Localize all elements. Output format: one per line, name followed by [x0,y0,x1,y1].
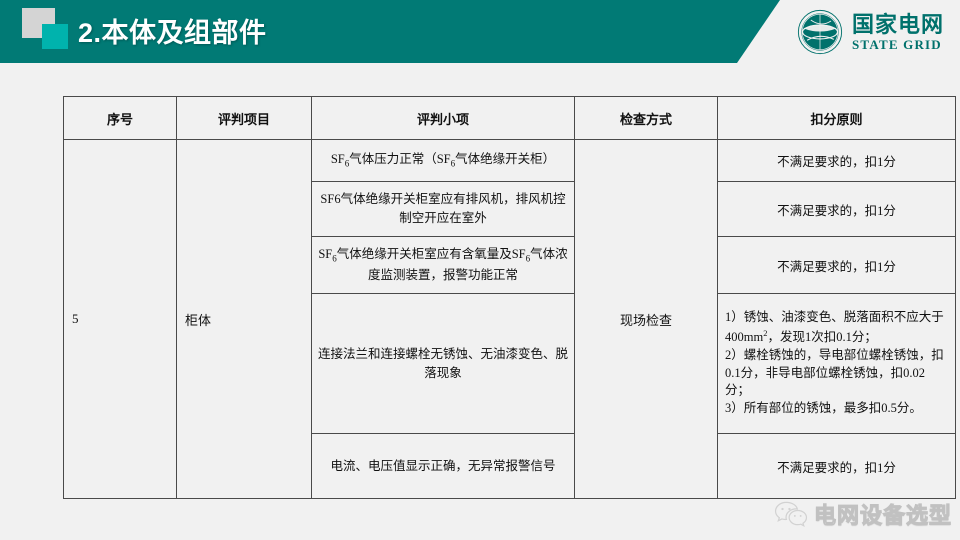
table-header-row: 序号 评判项目 评判小项 检查方式 扣分原则 [64,97,956,140]
cell-seq: 5 [64,140,177,499]
cell-deduction-rule: 不满足要求的，扣1分 [718,237,956,294]
cell-sub-item: 电流、电压值显示正确，无异常报警信号 [312,434,575,499]
cell-deduction-rule: 1）锈蚀、油漆变色、脱落面积不应大于400mm2，发现1次扣0.1分；2）螺栓锈… [718,294,956,434]
column-header-mode: 检查方式 [575,97,718,140]
column-header-seq: 序号 [64,97,177,140]
decor-square-teal [42,24,68,49]
state-grid-logo: 国家电网 STATE GRID [797,9,944,55]
cell-sub-item: SF6气体绝缘开关柜室应有含氧量及SF6气体浓度监测装置，报警功能正常 [312,237,575,294]
cell-deduction-rule: 不满足要求的，扣1分 [718,182,956,237]
page-title: 2.本体及组部件 [78,11,267,50]
evaluation-table: 序号 评判项目 评判小项 检查方式 扣分原则 5 柜体 SF6气体压力正常（SF… [63,96,956,499]
cell-deduction-rule: 不满足要求的，扣1分 [718,434,956,499]
table-body: 5 柜体 SF6气体压力正常（SF6气体绝缘开关柜） 现场检查 不满足要求的，扣… [64,140,956,499]
logo-chinese-name: 国家电网 [852,14,944,36]
cell-sub-item: SF6气体绝缘开关柜室应有排风机，排风机控制空开应在室外 [312,182,575,237]
wechat-watermark: 电网设备选型 [774,498,952,530]
column-header-item: 评判项目 [177,97,312,140]
wechat-icon [774,500,808,528]
cell-deduction-rule: 不满足要求的，扣1分 [718,140,956,182]
logo-text-block: 国家电网 STATE GRID [852,14,944,51]
cell-item: 柜体 [177,140,312,499]
table-row: 5 柜体 SF6气体压力正常（SF6气体绝缘开关柜） 现场检查 不满足要求的，扣… [64,140,956,182]
header-decor-squares [22,8,74,54]
logo-english-name: STATE GRID [852,38,944,51]
cell-check-mode: 现场检查 [575,140,718,499]
slide-header: 2.本体及组部件 国家电网 STATE GRID [0,0,960,63]
watermark-text: 电网设备选型 [814,498,952,530]
cell-sub-item: 连接法兰和连接螺栓无锈蚀、无油漆变色、脱落现象 [312,294,575,434]
column-header-sub: 评判小项 [312,97,575,140]
state-grid-globe-icon [797,9,843,55]
column-header-rule: 扣分原则 [718,97,956,140]
cell-sub-item: SF6气体压力正常（SF6气体绝缘开关柜） [312,140,575,182]
